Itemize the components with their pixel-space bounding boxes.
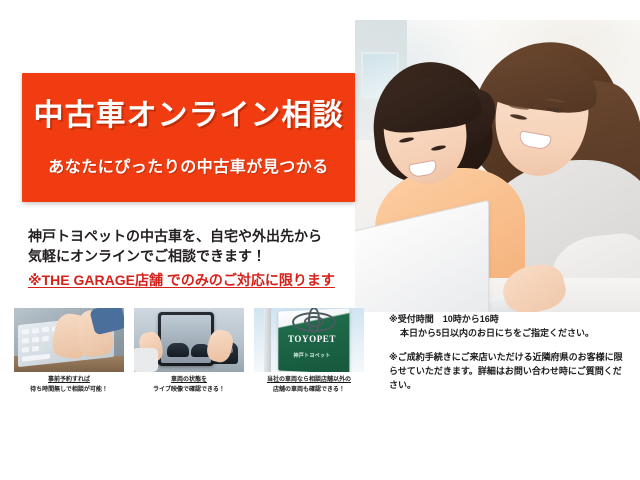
feature-caption-reservation: 事前予約すれば 待ち時間無しで相談が可能！ bbox=[14, 376, 124, 394]
lead-line-2: 気軽にオンラインでご相談できます！ bbox=[28, 246, 348, 266]
feature-caption-live-video: 車両の状態を ライブ映像で確認できる！ bbox=[134, 376, 244, 394]
toyopet-dealer-sign-photo: TOYOPET 神戸トヨペット bbox=[254, 308, 364, 372]
thumb1-key bbox=[22, 338, 29, 344]
feature-caption-bottom: ライブ映像で確認できる！ bbox=[134, 386, 244, 394]
feature-caption-top: 当社の車両なら相談店舗以外の bbox=[254, 376, 364, 384]
lead-line-1: 神戸トヨペットの中古車を、自宅や外出先から bbox=[28, 226, 348, 246]
feature-caption-top: 事前予約すれば bbox=[14, 376, 124, 384]
feature-caption-bottom: 待ち時間無しで相談が可能！ bbox=[14, 386, 124, 394]
thumb2-screen-car bbox=[167, 343, 189, 357]
thumb2-tablet bbox=[158, 312, 214, 366]
lead-restriction-note: ※THE GARAGE店舗 でのみのご対応に限ります bbox=[28, 270, 348, 290]
thumb3-sign-pole bbox=[264, 308, 271, 372]
note-hours: ※受付時間 10時から16時 bbox=[389, 312, 629, 326]
thumb3-sign-subbrand: 神戸トヨペット bbox=[278, 352, 346, 359]
ad-banner-canvas: 中古車オンライン相談 あなたにぴったりの中古車が見つかる 神戸トヨペットの中古車… bbox=[0, 0, 640, 480]
hands-typing-laptop-photo bbox=[14, 308, 124, 372]
lead-copy: 神戸トヨペットの中古車を、自宅や外出先から 気軽にオンラインでご相談できます！ … bbox=[28, 226, 348, 290]
thumb1-key bbox=[32, 328, 39, 334]
thumb3-sign-brand: TOYOPET bbox=[278, 334, 346, 344]
thumb1-key bbox=[22, 329, 29, 335]
toyota-emblem-inner-horizontal bbox=[304, 316, 324, 327]
feature-item-reservation: 事前予約すれば 待ち時間無しで相談が可能！ bbox=[14, 308, 124, 394]
headline-banner: 中古車オンライン相談 あなたにぴったりの中古車が見つかる bbox=[22, 73, 355, 202]
feature-item-other-stores: TOYOPET 神戸トヨペット 当社の車両なら相談店舗以外の 店舗の車両も確認で… bbox=[254, 308, 364, 394]
thumb1-key bbox=[42, 336, 49, 342]
thumb2-tablet-screen bbox=[161, 315, 211, 363]
thumb1-key-space bbox=[22, 354, 50, 362]
notes-block: ※受付時間 10時から16時 本日から5日以内のお日にちをご指定ください。 ※ご… bbox=[389, 312, 629, 392]
note-hours-detail: 本日から5日以内のお日にちをご指定ください。 bbox=[389, 326, 629, 340]
toyota-emblem-icon bbox=[292, 312, 332, 328]
headline-title: 中古車オンライン相談 bbox=[22, 90, 355, 134]
thumb1-key bbox=[22, 347, 29, 353]
notes-spacer bbox=[389, 340, 629, 350]
feature-item-live-video: 車両の状態を ライブ映像で確認できる！ bbox=[134, 308, 244, 394]
feature-caption-other-stores: 当社の車両なら相談店舗以外の 店舗の車両も確認できる！ bbox=[254, 376, 364, 394]
hero-photo-mother-daughter-laptop bbox=[355, 20, 640, 312]
note-contract: ※ご成約手続きにご来店いただける近隣府県のお客様に限らせていただきます。詳細はお… bbox=[389, 350, 629, 392]
thumb1-key bbox=[42, 327, 49, 333]
tablet-live-video-cars-photo bbox=[134, 308, 244, 372]
thumb1-key bbox=[32, 337, 39, 343]
feature-thumbnail-row: 事前予約すれば 待ち時間無しで相談が可能！ 車両の bbox=[14, 308, 374, 408]
feature-caption-top: 車両の状態を bbox=[134, 376, 244, 384]
headline-subtitle: あなたにぴったりの中古車が見つかる bbox=[22, 153, 355, 177]
feature-caption-bottom: 店舗の車両も確認できる！ bbox=[254, 386, 364, 394]
thumb2-sleeve bbox=[134, 348, 158, 372]
thumb1-key bbox=[32, 346, 39, 352]
